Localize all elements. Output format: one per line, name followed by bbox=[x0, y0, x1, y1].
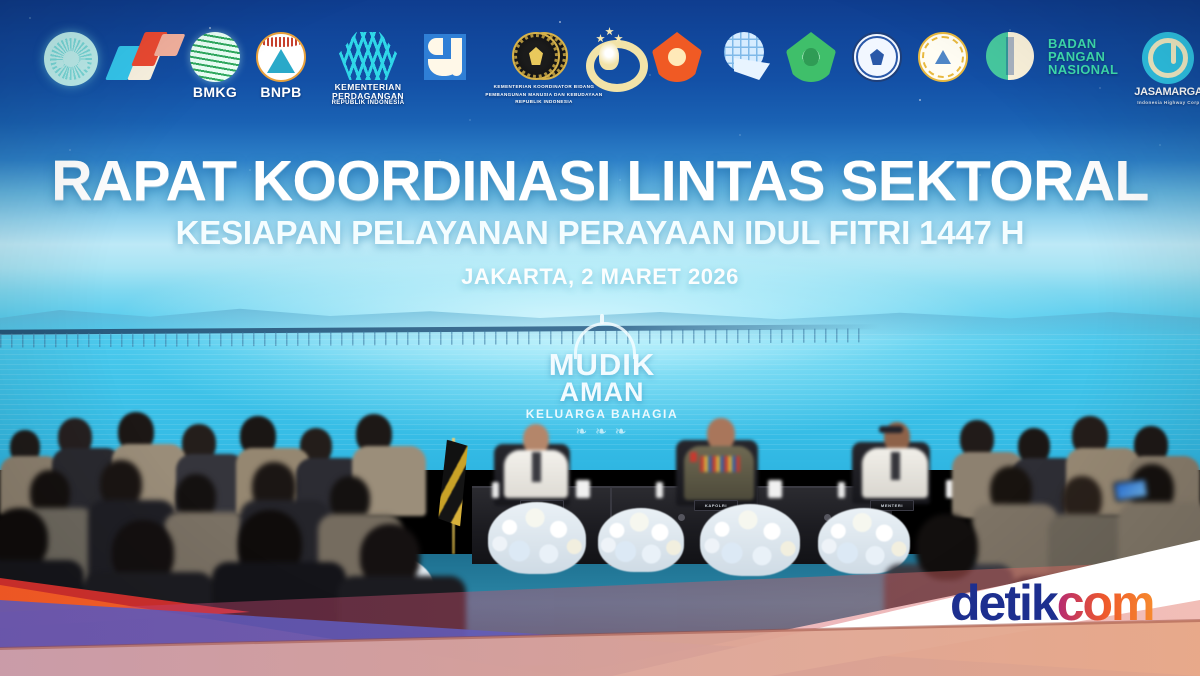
detikcom-wordmark-com: com bbox=[1057, 575, 1154, 631]
detikcom-watermark: detikcom bbox=[950, 578, 1154, 628]
news-photo: BMKG BNPB KEMENTERIAN PERDAGANGAN REPUBL… bbox=[0, 0, 1200, 676]
detikcom-wordmark-detik: detik bbox=[950, 575, 1057, 631]
